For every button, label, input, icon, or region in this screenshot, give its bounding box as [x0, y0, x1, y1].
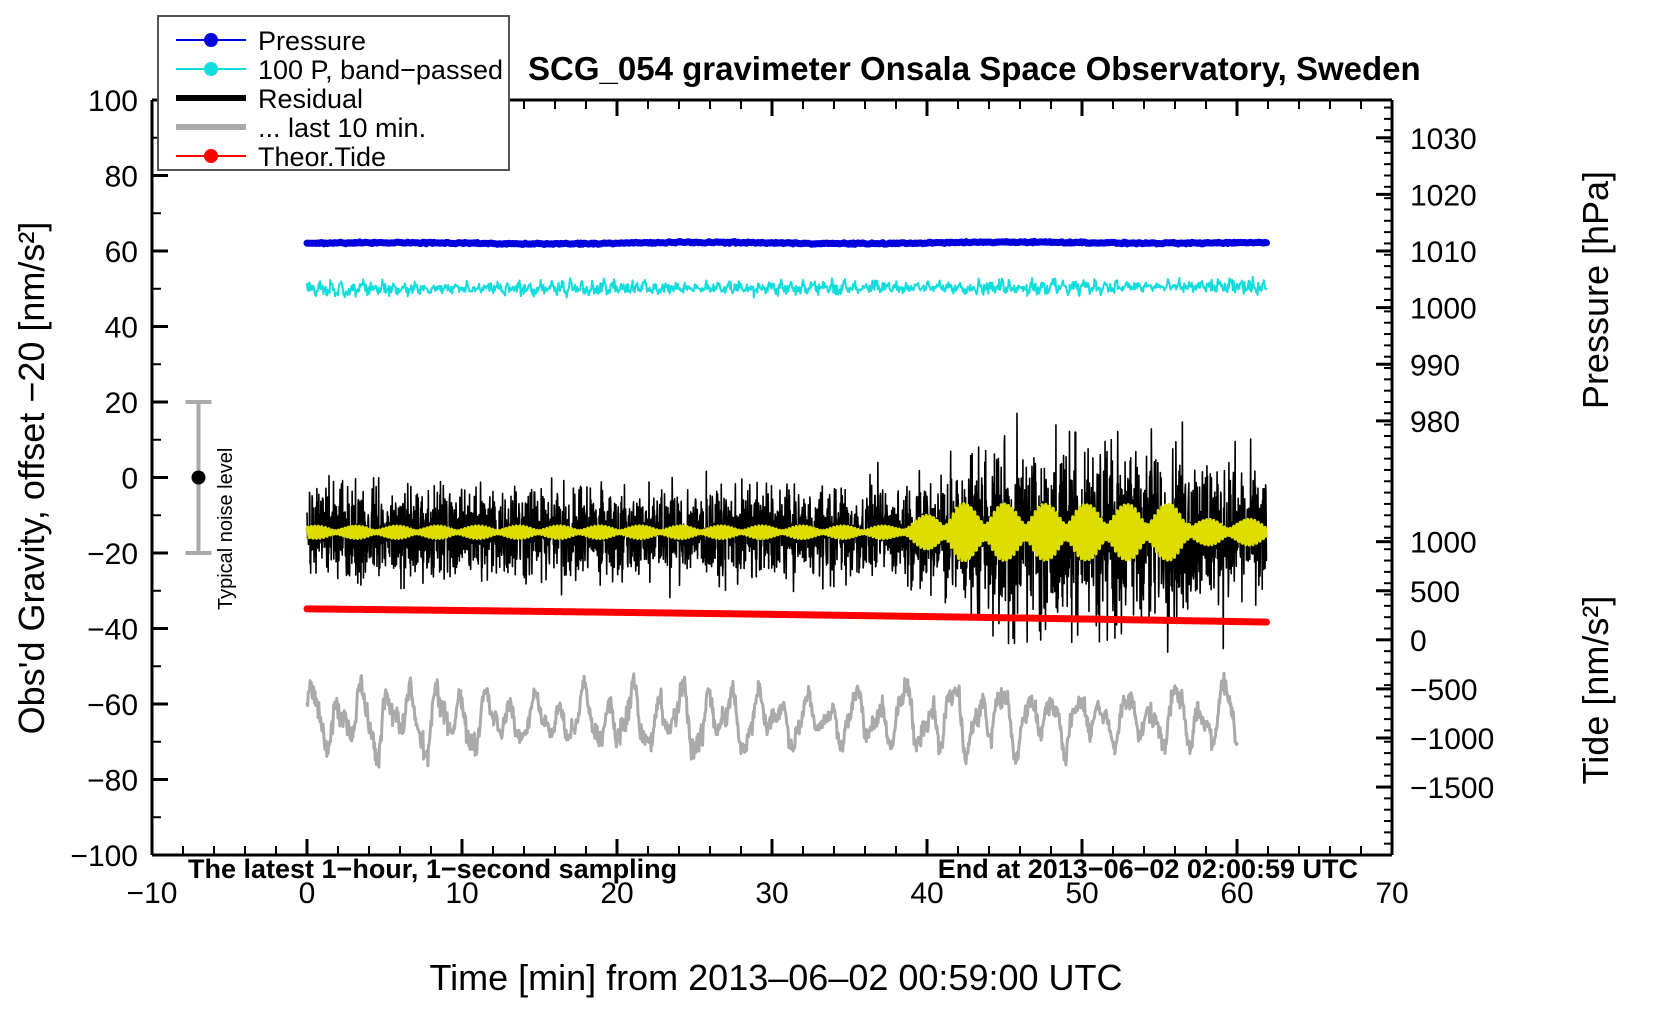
pressure-tick-label: 1020	[1410, 179, 1477, 212]
noise-center-dot	[192, 471, 206, 485]
bottom-left-note: The latest 1−hour, 1−second sampling	[188, 854, 677, 884]
typical-noise-level-label: Typical noise level	[215, 448, 237, 610]
pressure-tick-label: 1010	[1410, 236, 1477, 269]
y-tick-label: −100	[70, 840, 138, 873]
series-pressure	[307, 241, 1266, 244]
tide-tick-label: 500	[1410, 576, 1460, 609]
legend-marker-icon-0	[204, 33, 218, 47]
pressure-tick-label: 990	[1410, 349, 1460, 382]
page-title: SCG_054 gravimeter Onsala Space Observat…	[528, 50, 1421, 87]
pressure-axis-title: Pressure [hPa]	[1575, 171, 1616, 409]
y-tick-label: −80	[87, 765, 138, 798]
tide-tick-label: −1500	[1410, 772, 1494, 805]
pressure-tick-label: 980	[1410, 406, 1460, 439]
legend-label-1[interactable]: 100 P, band−passed	[258, 55, 503, 85]
x-tick-label: 30	[755, 877, 788, 910]
legend-marker-icon-4	[204, 149, 218, 163]
y-tick-label: 80	[105, 161, 138, 194]
legend-label-2[interactable]: Residual	[258, 84, 363, 114]
pressure-line	[307, 241, 1266, 244]
x-tick-label: 70	[1375, 877, 1408, 910]
y-tick-label: 20	[105, 387, 138, 420]
legend-label-3[interactable]: ... last 10 min.	[258, 113, 426, 143]
pressure-tick-label: 1030	[1410, 123, 1477, 156]
plot-canvas: −10010203040506070 100806040200−20−40−60…	[0, 0, 1660, 1020]
tide-axis-title: Tide [nm/s²]	[1575, 596, 1616, 785]
y-tick-label: 40	[105, 312, 138, 345]
y-tick-label: −40	[87, 614, 138, 647]
y-tick-label: −20	[87, 538, 138, 571]
tide-tick-label: 1000	[1410, 527, 1477, 560]
y-tick-label: 0	[121, 463, 138, 496]
legend-label-4[interactable]: Theor.Tide	[258, 142, 386, 172]
bottom-right-note: End at 2013−06−02 02:00:59 UTC	[938, 854, 1358, 884]
tide-tick-label: −1000	[1410, 723, 1494, 756]
y-tick-label: 100	[88, 85, 138, 118]
legend: Pressure100 P, band−passedResidual... la…	[158, 16, 509, 172]
tide-tick-label: 0	[1410, 625, 1427, 658]
y-axis-title: Obs'd Gravity, offset −20 [nm/s²]	[11, 222, 52, 735]
legend-marker-icon-1	[204, 62, 218, 76]
pressure-tick-label: 1000	[1410, 293, 1477, 326]
y-tick-label: −60	[87, 689, 138, 722]
legend-label-0[interactable]: Pressure	[258, 26, 366, 56]
x-tick-label: −10	[127, 877, 178, 910]
y-tick-label: 60	[105, 236, 138, 269]
x-axis-title: Time [min] from 2013–06–02 00:59:00 UTC	[429, 957, 1122, 998]
tide-tick-label: −500	[1410, 674, 1478, 707]
gravimeter-plot-figure: −10010203040506070 100806040200−20−40−60…	[0, 0, 1660, 1020]
